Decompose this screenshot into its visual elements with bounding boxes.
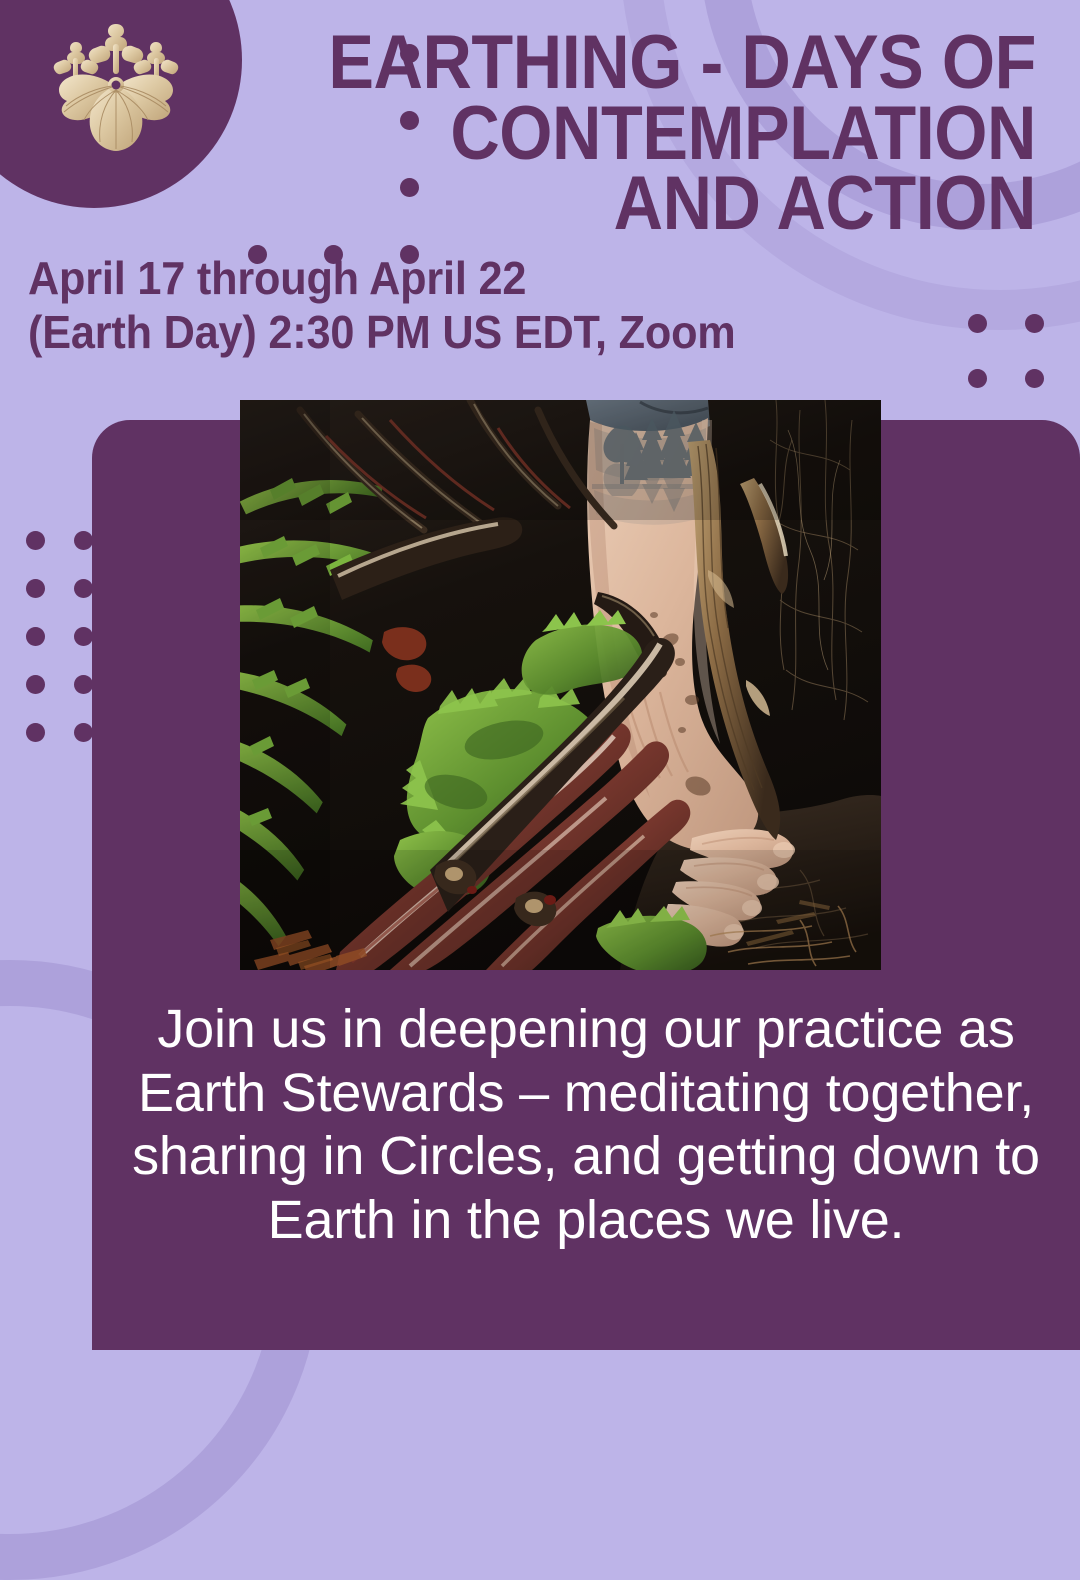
dot [74,675,93,694]
dot [26,627,45,646]
event-time-line: (Earth Day) 2:30 PM US EDT, Zoom [28,306,736,360]
dot [968,314,987,333]
dot [74,627,93,646]
event-description: Join us in deepening our practice as Ear… [92,998,1080,1253]
dot [968,369,987,388]
event-schedule: April 17 through April 22 (Earth Day) 2:… [28,252,736,360]
dot [1025,369,1044,388]
dot [26,675,45,694]
dot [26,579,45,598]
dot [26,723,45,742]
dot [74,531,93,550]
paulownia-crest-logo-icon [46,22,186,172]
dot [26,531,45,550]
dot [1025,314,1044,333]
dot [74,723,93,742]
page-title: EARTHING - DAYS OF CONTEMPLATION AND ACT… [325,28,1036,240]
event-date-line: April 17 through April 22 [28,252,736,306]
hand-reaching-into-mossy-forest-roots-photo [240,400,881,970]
dot [74,579,93,598]
